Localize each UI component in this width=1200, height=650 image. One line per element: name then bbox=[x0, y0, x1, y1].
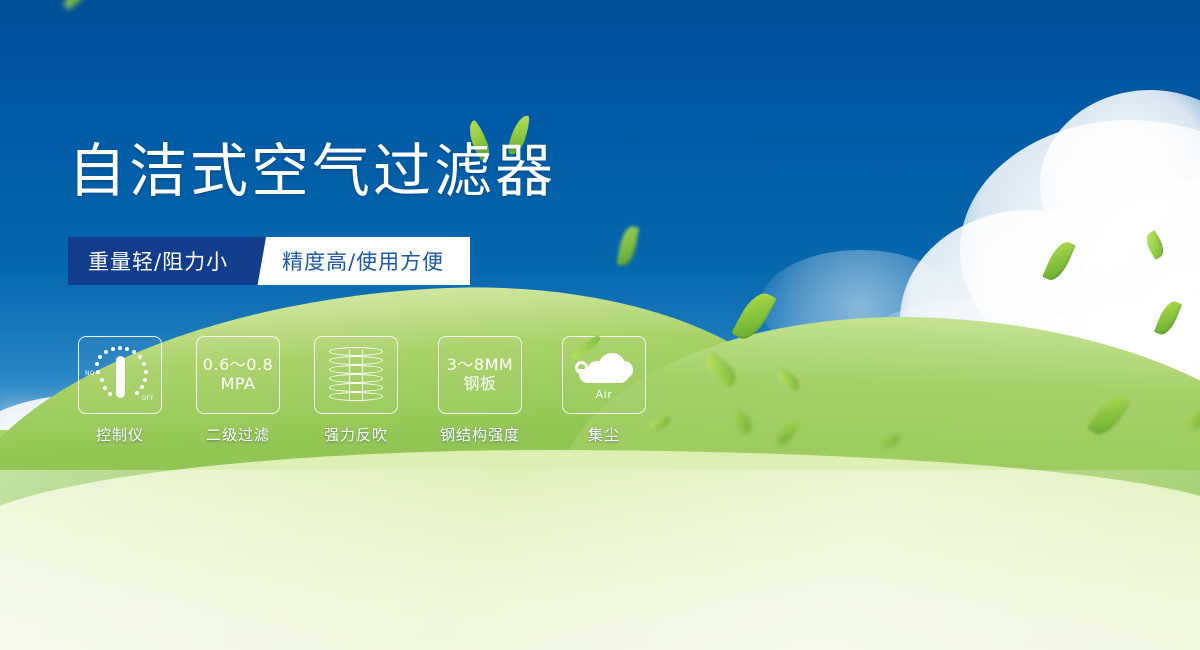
leaf-icon bbox=[569, 335, 603, 361]
feature-icon-box: 0.6～0.8 MPA bbox=[196, 336, 280, 414]
leaf-icon bbox=[1154, 298, 1182, 337]
feature-item-backblow[interactable]: 强力反吹 bbox=[314, 336, 398, 445]
steel-plate-text: 钢板 bbox=[463, 375, 496, 394]
feature-list: NO OFF 控制仪 0.6～0.8 MPA 二级过滤 bbox=[78, 336, 646, 445]
pressure-range-text: 0.6～0.8 bbox=[203, 356, 273, 375]
air-cloud-icon: Air bbox=[573, 349, 635, 401]
subtitle-divider bbox=[250, 237, 276, 285]
page-title: 自洁式空气过滤器 bbox=[68, 142, 556, 200]
leaf-icon bbox=[61, 0, 89, 10]
gauge-icon: NO OFF bbox=[86, 346, 154, 404]
feature-label: 钢结构强度 bbox=[440, 424, 520, 445]
leaf-icon bbox=[1142, 230, 1167, 260]
leaf-icon bbox=[1042, 238, 1076, 284]
gauge-label-no: NO bbox=[85, 370, 95, 377]
air-label: Air bbox=[573, 389, 635, 402]
feature-item-controller[interactable]: NO OFF 控制仪 bbox=[78, 336, 162, 445]
feature-icon-box: NO OFF bbox=[78, 336, 162, 414]
feature-item-steel[interactable]: 3～8MM 钢板 钢结构强度 bbox=[432, 336, 528, 445]
feature-item-dust[interactable]: Air 集尘 bbox=[562, 336, 646, 445]
feature-icon-box bbox=[314, 336, 398, 414]
cloud-shape bbox=[1040, 90, 1200, 280]
feature-icon-box: Air bbox=[562, 336, 646, 414]
subtitle-left-segment: 重量轻/阻力小 bbox=[68, 237, 250, 285]
subtitle-bar: 重量轻/阻力小 精度高/使用方便 bbox=[68, 237, 470, 285]
steel-thickness-text: 3～8MM bbox=[447, 356, 513, 375]
pressure-unit-text: MPA bbox=[221, 375, 256, 394]
gauge-label-off: OFF bbox=[141, 395, 154, 402]
small-cloud-ring bbox=[575, 361, 588, 374]
product-banner: 自洁式空气过滤器 重量轻/阻力小 精度高/使用方便 bbox=[0, 0, 1200, 650]
gauge-needle bbox=[116, 356, 125, 398]
grass-field bbox=[0, 430, 1200, 650]
feature-label: 控制仪 bbox=[96, 424, 144, 445]
subtitle-right-segment: 精度高/使用方便 bbox=[276, 237, 470, 285]
feature-item-pressure[interactable]: 0.6～0.8 MPA 二级过滤 bbox=[196, 336, 280, 445]
leaf-icon bbox=[617, 225, 640, 267]
feature-label: 强力反吹 bbox=[324, 424, 388, 445]
feature-label: 二级过滤 bbox=[206, 424, 270, 445]
filter-stack-icon bbox=[329, 347, 383, 403]
feature-icon-box: 3～8MM 钢板 bbox=[438, 336, 522, 414]
field-sheen bbox=[0, 470, 1200, 650]
feature-label: 集尘 bbox=[588, 424, 620, 445]
